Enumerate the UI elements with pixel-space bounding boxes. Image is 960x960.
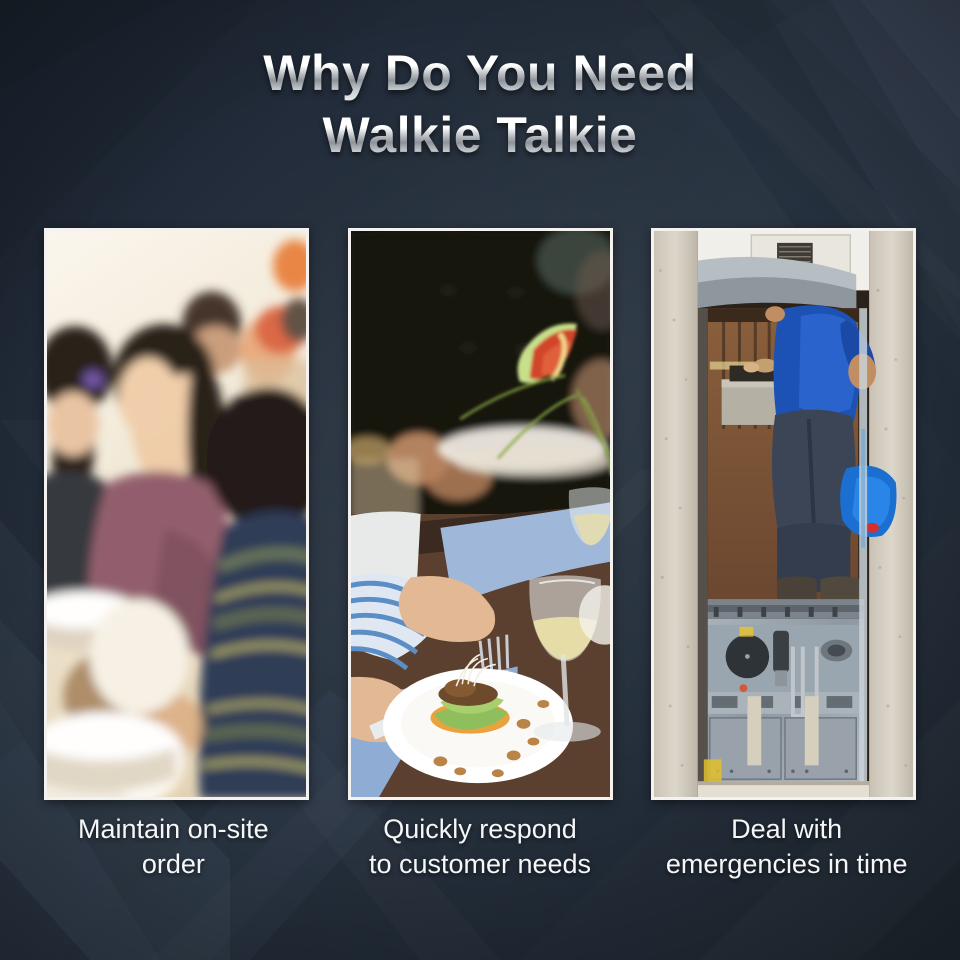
caption-1-line-2: order	[24, 847, 323, 882]
poster-canvas: Why Do You Need Walkie Talkie	[0, 0, 960, 960]
caption-1-line-1: Maintain on-site	[24, 812, 323, 847]
caption-2: Quickly respond to customer needs	[327, 812, 634, 922]
caption-3: Deal with emergencies in time	[633, 812, 940, 922]
caption-row: Maintain on-site order Quickly respond t…	[20, 812, 940, 922]
caption-3-line-1: Deal with	[637, 812, 936, 847]
page-title: Why Do You Need Walkie Talkie	[0, 42, 960, 166]
caption-2-line-2: to customer needs	[331, 847, 630, 882]
caption-1: Maintain on-site order	[20, 812, 327, 922]
restaurant-service-photo	[351, 231, 610, 797]
elevator-repair-photo	[654, 231, 913, 797]
cafeteria-crowd-photo	[47, 231, 306, 797]
photo-panel-3[interactable]	[651, 228, 916, 800]
title-line-2: Walkie Talkie	[0, 104, 960, 166]
title-line-1: Why Do You Need	[0, 42, 960, 104]
photo-panel-2[interactable]	[348, 228, 613, 800]
photo-panel-1[interactable]	[44, 228, 309, 800]
caption-2-line-1: Quickly respond	[331, 812, 630, 847]
photo-panel-row	[44, 228, 916, 800]
caption-3-line-2: emergencies in time	[637, 847, 936, 882]
